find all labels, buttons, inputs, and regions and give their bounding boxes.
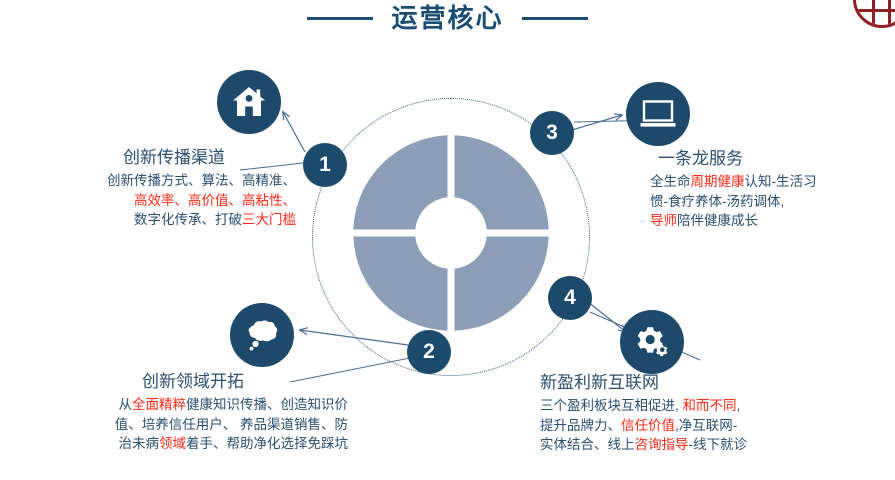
text-segment: 创新传播方式、算法、高精准、 — [107, 173, 296, 188]
block-4-line-2: 提升品牌力、信任价值,净互联网- — [540, 416, 840, 436]
text-segment: 值、培养信任用户、 养品渠道销售、防 — [115, 417, 348, 432]
gears-icon — [634, 326, 670, 358]
node-number-3[interactable]: 3 — [530, 111, 574, 155]
laptop-icon — [640, 100, 676, 128]
donut-segments — [353, 135, 549, 331]
node-number-2-label: 2 — [423, 340, 435, 364]
text-segment: 惯-食疗养体-汤药调体, — [650, 194, 784, 209]
text-block-3: 一条龙服务 全生命周期健康认知-生活习 惯-食疗养体-汤药调体, 导师陪伴健康成… — [650, 148, 890, 231]
text-segment: 陪伴健康成长 — [677, 213, 758, 228]
node-number-2[interactable]: 2 — [407, 330, 451, 374]
icon-node-3[interactable] — [626, 82, 690, 146]
text-segment: 着手、帮助净化选择免踩坑 — [186, 436, 348, 451]
block-1-line-3: 数字化传承、打破三大门槛 — [56, 210, 296, 230]
icon-node-4[interactable] — [620, 310, 684, 374]
text-segment: 咨询指导 — [635, 437, 689, 452]
block-3-line-3: 导师陪伴健康成长 — [650, 211, 890, 231]
block-2-line-3: 治未病领域着手、帮助净化选择免踩坑 — [48, 434, 348, 454]
segment-bottom-right — [455, 237, 549, 331]
segment-bottom-left — [353, 237, 447, 331]
block-3-title: 一条龙服务 — [650, 148, 890, 170]
node-number-4[interactable]: 4 — [548, 276, 592, 320]
page-title: 运营核心 — [0, 4, 895, 33]
block-2-line-2: 值、培养信任用户、 养品渠道销售、防 — [48, 415, 348, 435]
segment-top-right — [455, 135, 549, 229]
text-segment: 高效率、高价值、高粘性、 — [134, 193, 296, 208]
text-segment: , — [737, 398, 741, 413]
segment-top-left — [353, 135, 447, 229]
block-1-line-2: 高效率、高价值、高粘性、 — [56, 191, 296, 211]
text-segment: -线下就诊 — [689, 437, 748, 452]
node-number-4-label: 4 — [564, 286, 576, 310]
text-segment: 健康知识传播、创造知识价 — [186, 397, 348, 412]
text-segment: ,净互联网- — [675, 418, 737, 433]
text-segment: 周期健康 — [691, 174, 745, 189]
icon-node-1[interactable] — [217, 70, 281, 134]
block-4-line-3: 实体结合、线上咨询指导-线下就诊 — [540, 435, 840, 455]
block-1-line-1: 创新传播方式、算法、高精准、 — [56, 171, 296, 191]
title-text: 运营核心 — [391, 4, 503, 33]
node-number-3-label: 3 — [546, 121, 558, 145]
text-segment: 实体结合、线上 — [540, 437, 635, 452]
title-rule-left — [307, 17, 373, 20]
text-segment: 治未病 — [119, 436, 160, 451]
icon-node-2[interactable] — [230, 303, 294, 367]
text-segment: 认知-生活习 — [745, 174, 817, 189]
thought-bubble-icon — [244, 319, 280, 351]
block-2-title: 创新领域开拓 — [48, 371, 348, 393]
text-block-2: 创新领域开拓 从全面精粹健康知识传播、创造知识价 值、培养信任用户、 养品渠道销… — [48, 371, 348, 454]
block-3-line-1: 全生命周期健康认知-生活习 — [650, 172, 890, 192]
text-block-1: 创新传播渠道 创新传播方式、算法、高精准、 高效率、高价值、高粘性、 数字化传承… — [56, 147, 296, 230]
block-3-line-2: 惯-食疗养体-汤药调体, — [650, 192, 890, 212]
text-segment: 信任价值 — [621, 418, 675, 433]
connector-1 — [283, 112, 305, 152]
text-segment: 数字化传承、打破 — [134, 212, 242, 227]
connector-4 — [588, 302, 626, 332]
block-2-line-1: 从全面精粹健康知识传播、创造知识价 — [48, 395, 348, 415]
text-segment: 领域 — [159, 436, 186, 451]
text-segment: 从 — [119, 397, 133, 412]
block-4-title: 新盈利新互联网 — [540, 372, 840, 394]
slide-canvas: 运营核心 — [0, 0, 895, 480]
text-segment: 和而不同 — [683, 398, 737, 413]
node-number-1[interactable]: 1 — [303, 143, 347, 187]
title-rule-right — [522, 17, 588, 20]
home-icon — [232, 86, 266, 118]
text-segment: 全面精粹 — [132, 397, 186, 412]
text-segment: 三大门槛 — [242, 212, 296, 227]
text-segment: 三个盈利板块互相促进, — [540, 398, 683, 413]
text-segment: 导师 — [650, 213, 677, 228]
text-block-4: 新盈利新互联网 三个盈利板块互相促进, 和而不同, 提升品牌力、信任价值,净互联… — [540, 372, 840, 455]
node-number-1-label: 1 — [319, 153, 331, 177]
block-1-title: 创新传播渠道 — [56, 147, 296, 169]
text-segment: 全生命 — [650, 174, 691, 189]
block-4-line-1: 三个盈利板块互相促进, 和而不同, — [540, 396, 840, 416]
text-segment: 提升品牌力、 — [540, 418, 621, 433]
